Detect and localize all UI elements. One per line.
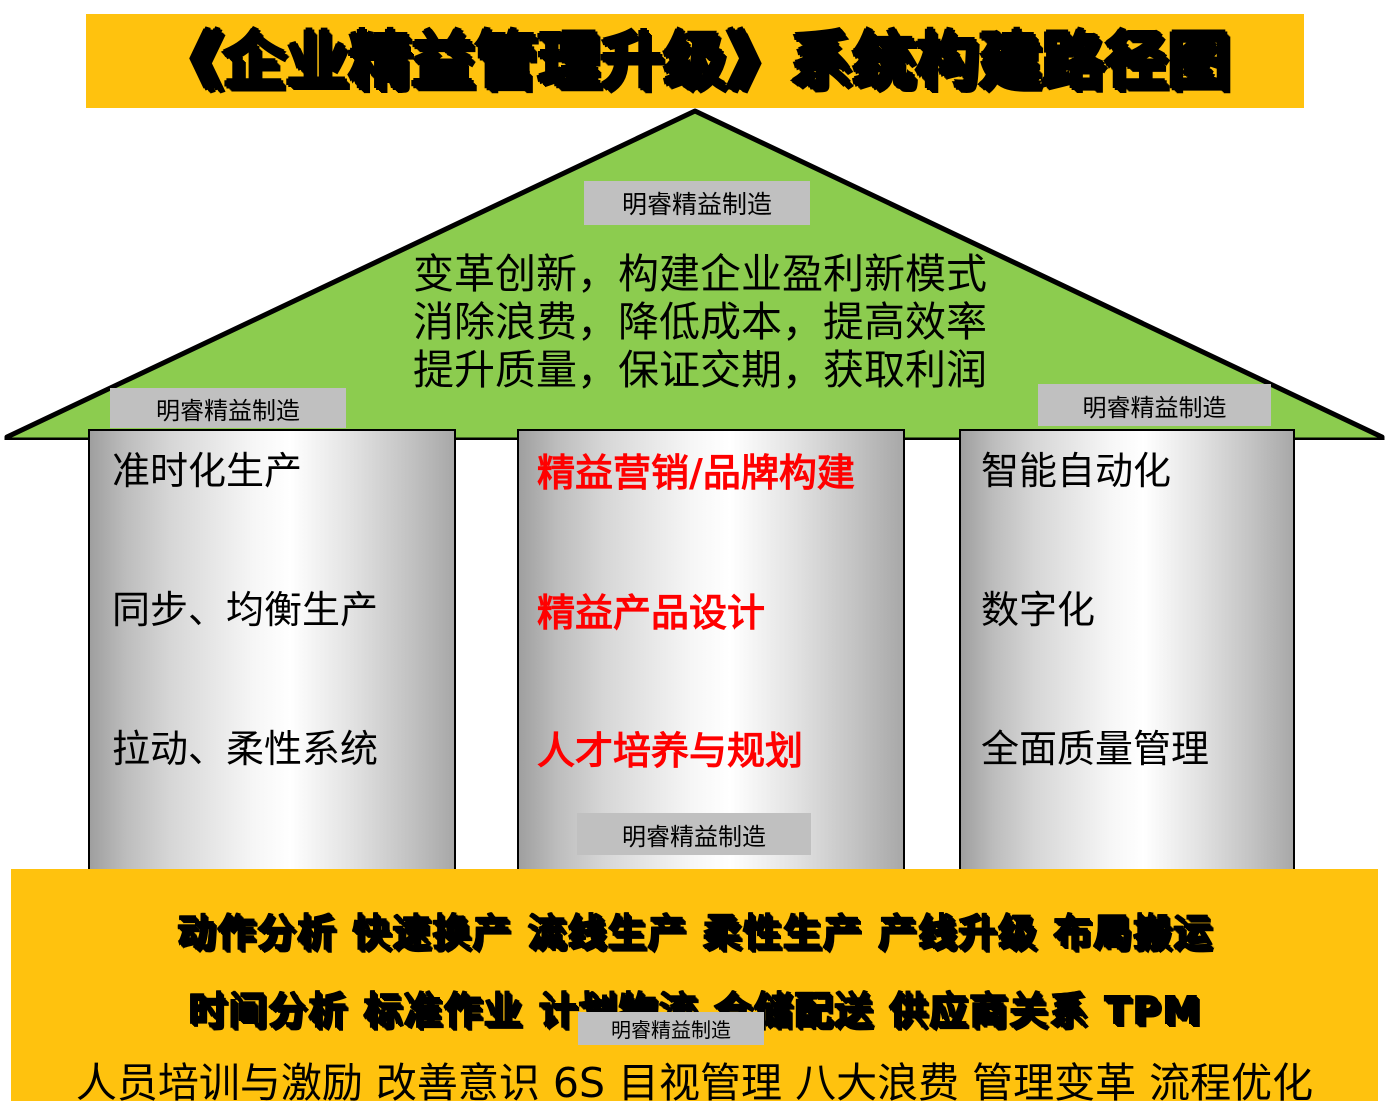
pillar-right-item-1: 智能自动化: [981, 449, 1171, 493]
watermark-roof-left: 明睿精益制造: [110, 388, 346, 428]
watermark-middle-pillar: 明睿精益制造: [577, 813, 811, 855]
pillar-right-item-2: 数字化: [981, 588, 1095, 632]
watermark-foundation: 明睿精益制造: [578, 1012, 764, 1045]
foundation-row-3: 人员培训与激励 改善意识 6S 目视管理 八大浪费 管理变革 流程优化: [11, 1049, 1378, 1109]
pillar-middle-item-1: 精益营销/品牌构建: [537, 451, 855, 495]
title-banner: 《企业精益管理升级》系统构建路径图: [86, 14, 1304, 108]
pillar-middle: 精益营销/品牌构建 精益产品设计 人才培养与规划: [517, 429, 905, 872]
pillar-left-item-3: 拉动、柔性系统: [112, 727, 378, 771]
pillar-left-item-1: 准时化生产: [112, 449, 302, 493]
page-title: 《企业精益管理升级》系统构建路径图: [159, 30, 1230, 92]
pillar-left: 准时化生产 同步、均衡生产 拉动、柔性系统: [88, 429, 456, 872]
pillar-right: 智能自动化 数字化 全面质量管理: [959, 429, 1295, 872]
pillar-middle-item-3: 人才培养与规划: [537, 729, 803, 773]
diagram-canvas: 《企业精益管理升级》系统构建路径图 变革创新，构建企业盈利新模式 消除浪费，降低…: [0, 0, 1389, 1114]
pillar-left-item-2: 同步、均衡生产: [112, 588, 378, 632]
foundation-block: 动作分析 快速换产 流线生产 柔性生产 产线升级 布局搬运 时间分析 标准作业 …: [11, 869, 1378, 1101]
pillar-middle-item-2: 精益产品设计: [537, 591, 765, 635]
foundation-row-1: 动作分析 快速换产 流线生产 柔性生产 产线升级 布局搬运: [11, 901, 1378, 956]
watermark-roof-right: 明睿精益制造: [1038, 384, 1271, 426]
pillar-right-item-3: 全面质量管理: [981, 727, 1209, 771]
watermark-roof-top: 明睿精益制造: [584, 181, 810, 225]
